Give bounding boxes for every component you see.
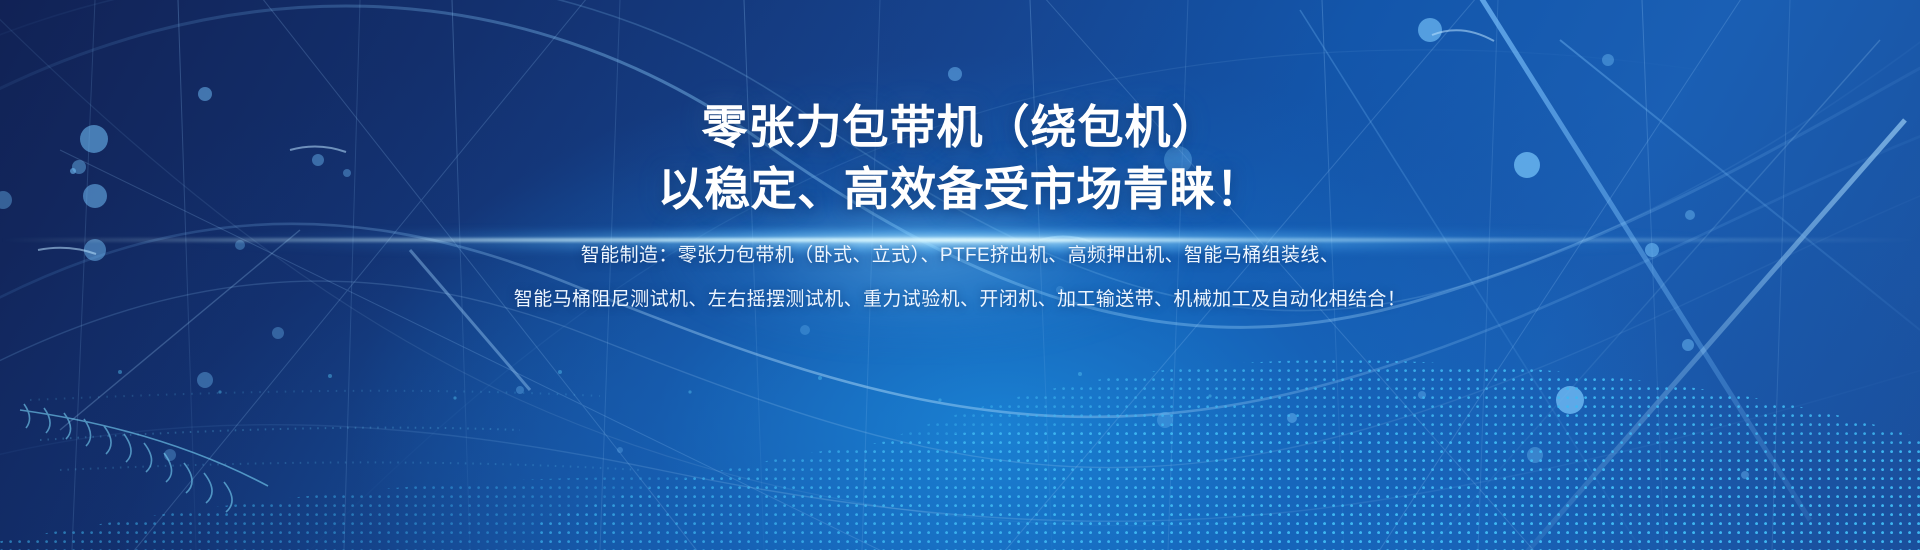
hero-text-block: 零张力包带机（绕包机） 以稳定、高效备受市场青睐！ 智能制造：零张力包带机（卧式… (0, 96, 1920, 322)
subtitle-line-2: 智能马桶阻尼测试机、左右摇摆测试机、重力试验机、开闭机、加工输送带、机械加工及自… (0, 278, 1920, 322)
subtitle-block: 智能制造：零张力包带机（卧式、立式）、PTFE挤出机、高频押出机、智能马桶组装线… (0, 234, 1920, 322)
hero-banner: 零张力包带机（绕包机） 以稳定、高效备受市场青睐！ 智能制造：零张力包带机（卧式… (0, 0, 1920, 550)
headline-line-1: 零张力包带机（绕包机） (0, 96, 1920, 158)
headline-line-2: 以稳定、高效备受市场青睐！ (0, 158, 1920, 220)
subtitle-line-1: 智能制造：零张力包带机（卧式、立式）、PTFE挤出机、高频押出机、智能马桶组装线… (0, 234, 1920, 278)
